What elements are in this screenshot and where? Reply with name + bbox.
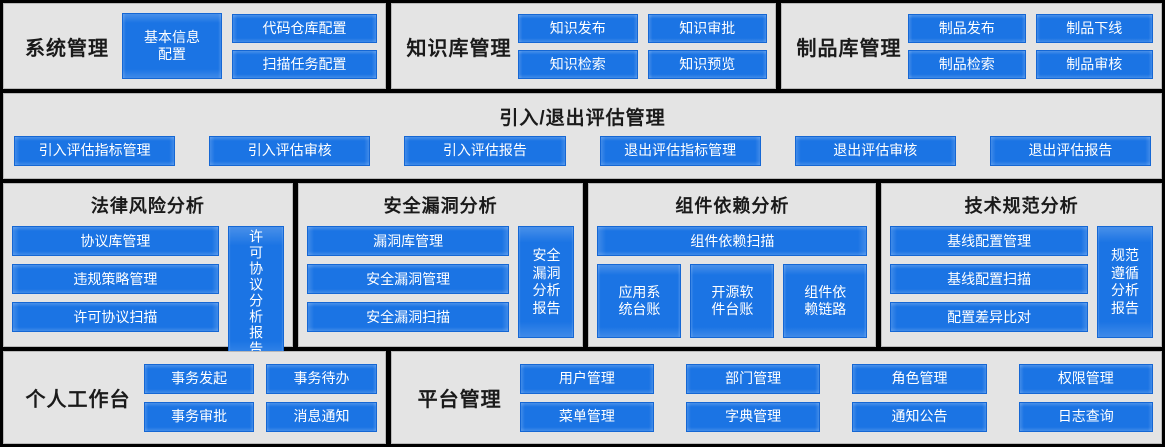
button-basic-info-config[interactable]: 基本信息 配置 [122,13,222,79]
panel-title-product-repo-management: 制品库管理 [790,32,908,61]
button-transaction-approval[interactable]: 事务审批 [144,402,254,432]
button-baseline-config-scan[interactable]: 基线配置扫描 [890,264,1088,294]
platform-management-button-grid: 用户管理 部门管理 角色管理 权限管理 菜单管理 字典管理 通知公告 日志查询 [520,364,1153,432]
button-component-dependency-chain[interactable]: 组件依 赖链路 [783,264,867,338]
button-notice-announcement[interactable]: 通知公告 [852,402,986,432]
personal-workbench-button-grid: 事务发起 事务待办 事务审批 消息通知 [144,364,377,432]
button-transaction-initiate[interactable]: 事务发起 [144,364,254,394]
button-scan-task-config[interactable]: 扫描任务配置 [232,50,377,79]
row-analysis: 法律风险分析 协议库管理 违规策略管理 许可协议扫描 许可协议分析报告 安全漏洞… [3,183,1162,347]
button-license-agreement-scan[interactable]: 许可协议扫描 [12,302,219,332]
panel-title-legal-risk-analysis: 法律风险分析 [12,192,284,218]
button-security-vulnerability-management[interactable]: 安全漏洞管理 [307,264,510,294]
panel-title-security-vulnerability-analysis: 安全漏洞分析 [307,192,575,218]
button-transaction-todo[interactable]: 事务待办 [266,364,376,394]
button-security-vulnerability-analysis-report[interactable]: 安全 漏洞 分析 报告 [518,226,574,338]
button-intro-eval-audit[interactable]: 引入评估审核 [209,136,370,166]
panel-legal-risk-analysis: 法律风险分析 协议库管理 违规策略管理 许可协议扫描 许可协议分析报告 [3,183,293,347]
button-dictionary-management[interactable]: 字典管理 [686,402,820,432]
panel-security-vulnerability-analysis: 安全漏洞分析 漏洞库管理 安全漏洞管理 安全漏洞扫描 安全 漏洞 分析 报告 [298,183,584,347]
button-opensource-software-ledger[interactable]: 开源软 件台账 [690,264,774,338]
button-knowledge-search[interactable]: 知识检索 [518,50,638,79]
panel-platform-management: 平台管理 用户管理 部门管理 角色管理 权限管理 菜单管理 字典管理 通知公告 … [391,351,1162,444]
button-intro-eval-report[interactable]: 引入评估报告 [404,136,565,166]
button-security-vulnerability-scan[interactable]: 安全漏洞扫描 [307,302,510,332]
system-management-button-column: 代码仓库配置 扫描任务配置 [232,14,377,79]
button-knowledge-preview[interactable]: 知识预览 [648,50,768,79]
product-repo-button-grid: 制品发布 制品下线 制品检索 制品审核 [908,14,1153,79]
button-violation-policy-management[interactable]: 违规策略管理 [12,264,219,294]
panel-component-dependency-analysis: 组件依赖分析 组件依赖扫描 应用系 统台账 开源软 件台账 组件依 赖链路 [588,183,876,347]
button-intro-eval-metric-management[interactable]: 引入评估指标管理 [14,136,175,166]
legal-risk-button-column: 协议库管理 违规策略管理 许可协议扫描 [12,226,219,360]
row-evaluation: 引入/退出评估管理 引入评估指标管理 引入评估审核 引入评估报告 退出评估指标管… [3,93,1162,179]
panel-title-system-management: 系统管理 [12,32,122,61]
panel-title-intro-exit-evaluation: 引入/退出评估管理 [10,103,1155,130]
security-vuln-button-column: 漏洞库管理 安全漏洞管理 安全漏洞扫描 [307,226,510,338]
button-exit-eval-metric-management[interactable]: 退出评估指标管理 [600,136,761,166]
panel-knowledge-base-management: 知识库管理 知识发布 知识审批 知识检索 知识预览 [391,3,776,89]
button-code-repo-config[interactable]: 代码仓库配置 [232,14,377,43]
panel-title-personal-workbench: 个人工作台 [12,383,144,412]
button-knowledge-publish[interactable]: 知识发布 [518,14,638,43]
panel-title-technical-spec-analysis: 技术规范分析 [890,192,1153,218]
button-user-management[interactable]: 用户管理 [520,364,654,394]
button-log-query[interactable]: 日志查询 [1019,402,1153,432]
component-dependency-button-row: 应用系 统台账 开源软 件台账 组件依 赖链路 [597,264,867,338]
button-permission-management[interactable]: 权限管理 [1019,364,1153,394]
button-role-management[interactable]: 角色管理 [852,364,986,394]
panel-product-repo-management: 制品库管理 制品发布 制品下线 制品检索 制品审核 [781,3,1162,89]
button-license-analysis-report[interactable]: 许可协议分析报告 [228,226,284,360]
panel-title-component-dependency-analysis: 组件依赖分析 [597,192,867,218]
button-product-offline[interactable]: 制品下线 [1036,14,1154,43]
panel-technical-spec-analysis: 技术规范分析 基线配置管理 基线配置扫描 配置差异比对 规范 遵循 分析 报告 [881,183,1162,347]
button-product-search[interactable]: 制品检索 [908,50,1026,79]
button-component-dependency-scan[interactable]: 组件依赖扫描 [597,226,867,256]
architecture-diagram-root: 系统管理 基本信息 配置 代码仓库配置 扫描任务配置 知识库管理 知识发布 知识… [0,0,1165,447]
knowledge-base-button-grid: 知识发布 知识审批 知识检索 知识预览 [518,14,767,79]
evaluation-button-row: 引入评估指标管理 引入评估审核 引入评估报告 退出评估指标管理 退出评估审核 退… [10,136,1155,166]
panel-system-management: 系统管理 基本信息 配置 代码仓库配置 扫描任务配置 [3,3,386,89]
row-top: 系统管理 基本信息 配置 代码仓库配置 扫描任务配置 知识库管理 知识发布 知识… [3,3,1162,89]
button-exit-eval-report[interactable]: 退出评估报告 [990,136,1151,166]
button-message-notification[interactable]: 消息通知 [266,402,376,432]
button-product-audit[interactable]: 制品审核 [1036,50,1154,79]
button-baseline-config-management[interactable]: 基线配置管理 [890,226,1088,256]
button-config-diff-comparison[interactable]: 配置差异比对 [890,302,1088,332]
button-spec-compliance-analysis-report[interactable]: 规范 遵循 分析 报告 [1097,226,1153,338]
panel-personal-workbench: 个人工作台 事务发起 事务待办 事务审批 消息通知 [3,351,386,444]
button-vulnerability-library-management[interactable]: 漏洞库管理 [307,226,510,256]
button-product-publish[interactable]: 制品发布 [908,14,1026,43]
button-exit-eval-audit[interactable]: 退出评估审核 [795,136,956,166]
button-application-system-ledger[interactable]: 应用系 统台账 [597,264,681,338]
button-knowledge-approval[interactable]: 知识审批 [648,14,768,43]
button-license-library-management[interactable]: 协议库管理 [12,226,219,256]
row-bottom: 个人工作台 事务发起 事务待办 事务审批 消息通知 平台管理 用户管理 部门管理… [3,351,1162,444]
button-department-management[interactable]: 部门管理 [686,364,820,394]
panel-title-knowledge-base-management: 知识库管理 [400,32,518,61]
tech-spec-button-column: 基线配置管理 基线配置扫描 配置差异比对 [890,226,1088,338]
button-menu-management[interactable]: 菜单管理 [520,402,654,432]
panel-intro-exit-evaluation: 引入/退出评估管理 引入评估指标管理 引入评估审核 引入评估报告 退出评估指标管… [3,93,1162,179]
panel-title-platform-management: 平台管理 [400,383,520,412]
